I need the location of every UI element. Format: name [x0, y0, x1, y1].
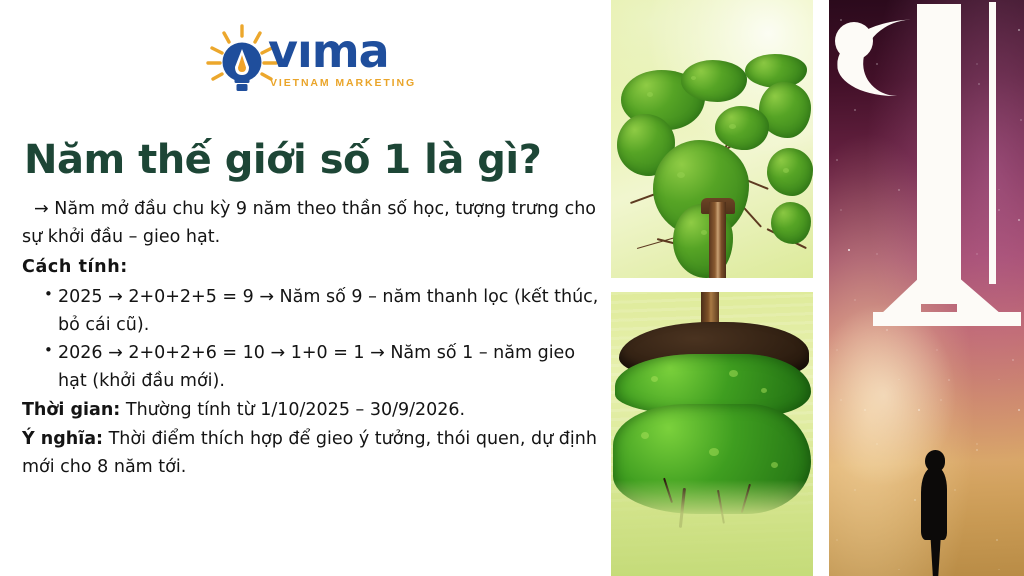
list-item: 2025 → 2+0+2+5 = 9 → Năm số 9 – năm than…	[44, 284, 600, 339]
meaning-value: Thời điểm thích hợp để gieo ý tưởng, thó…	[22, 429, 597, 477]
foliage-speck	[729, 124, 736, 129]
person-silhouette	[915, 450, 955, 576]
numeral-one-stem	[917, 4, 961, 304]
moss-speck	[729, 370, 738, 377]
foliage-speck	[677, 172, 685, 178]
silhouette-legs	[928, 534, 941, 576]
water-reflection	[611, 480, 813, 576]
moss-speck	[641, 432, 649, 439]
continent-foliage	[771, 202, 811, 244]
moss-speck	[761, 388, 767, 393]
numeral-one-serif-left	[881, 276, 921, 314]
calculation-list: 2025 → 2+0+2+5 = 9 → Năm số 9 – năm than…	[22, 284, 600, 396]
body-copy: → Năm mở đầu chu kỳ 9 năm theo thần số h…	[22, 196, 600, 482]
moss-speck	[771, 462, 778, 468]
logo-tagline: VIETNAM MARKETING	[270, 78, 416, 89]
time-value: Thường tính từ 1/10/2025 – 30/9/2026.	[126, 400, 465, 420]
section-heading-cach-tinh: Cách tính:	[22, 254, 600, 282]
page-title: Năm thế giới số 1 là gì?	[24, 137, 604, 183]
globe-tree-photo	[611, 0, 813, 278]
foliage-speck	[691, 76, 696, 80]
numeral-one-flag-tip	[835, 22, 873, 60]
logo-wordmark-text: vıma	[268, 28, 389, 74]
meaning-line: Ý nghĩa: Thời điểm thích hợp để gieo ý t…	[22, 426, 600, 481]
slide-canvas: vıma VIETNAM MARKETING Năm thế giới số 1…	[0, 0, 1024, 576]
vima-logo: vıma VIETNAM MARKETING	[196, 22, 418, 100]
moss-speck	[709, 448, 719, 456]
meaning-label: Ý nghĩa:	[22, 429, 103, 449]
continent-foliage	[715, 106, 769, 150]
silhouette-torso	[921, 468, 947, 540]
continent-foliage	[767, 148, 813, 196]
intro-paragraph: → Năm mở đầu chu kỳ 9 năm theo thần số h…	[22, 196, 600, 251]
foliage-speck	[701, 230, 707, 235]
numeral-one-base	[873, 312, 1021, 326]
time-line: Thời gian: Thường tính từ 1/10/2025 – 30…	[22, 397, 600, 425]
list-item: 2026 → 2+0+2+6 = 10 → 1+0 = 1 → Năm số 1…	[44, 340, 600, 395]
moss-speck	[651, 376, 658, 382]
world-map-foliage	[617, 52, 813, 278]
continent-foliage	[681, 60, 747, 102]
foliage-speck	[647, 92, 653, 97]
tree-trunk	[709, 202, 726, 278]
foliage-speck	[783, 168, 789, 173]
cosmic-number-one-photo	[829, 0, 1024, 576]
green-hands-soil-photo	[611, 292, 813, 576]
logo-wordmark: vıma VIETNAM MARKETING	[268, 26, 418, 100]
content-pane: vıma VIETNAM MARKETING Năm thế giới số 1…	[0, 0, 610, 576]
numeral-one-shape	[829, 0, 1024, 386]
time-label: Thời gian:	[22, 400, 120, 420]
numeral-one-hairline	[989, 2, 996, 284]
